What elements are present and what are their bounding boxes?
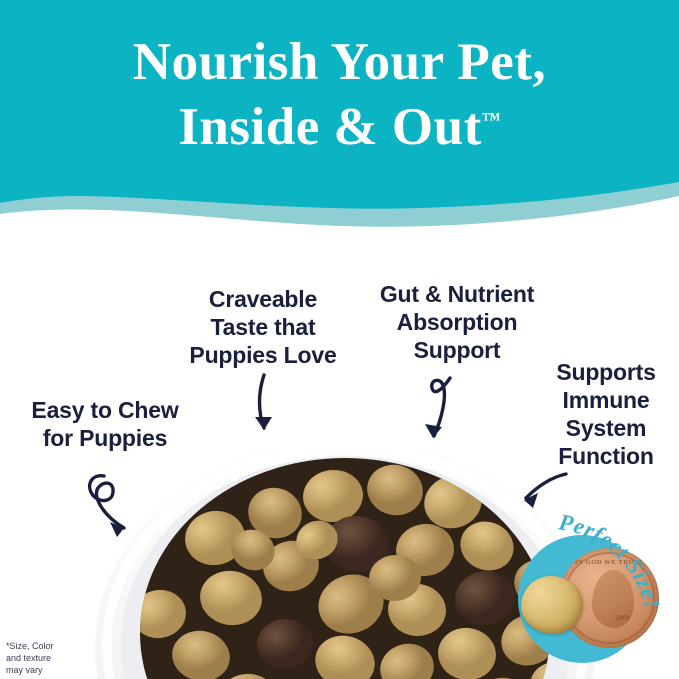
trademark-symbol: ™ — [482, 110, 501, 131]
page-title: Nourish Your Pet, Inside & Out™ — [0, 30, 679, 160]
title-line-2: Inside & Out — [178, 98, 481, 156]
callout-easy-to-chew: Easy to Chew for Puppies — [10, 396, 200, 452]
perfect-size-badge: IN GOD WE TRUST 2008 Perfect Size! — [497, 497, 679, 679]
product-infographic: Nourish Your Pet, Inside & Out™ — [0, 0, 679, 679]
callout-immune-support: Supports Immune System Function — [538, 358, 674, 470]
disclaimer-text: *Size, Color and texture may vary — [6, 641, 98, 677]
perfect-size-label-path: Perfect Size! — [556, 509, 665, 611]
callout-gut-nutrient: Gut & Nutrient Absorption Support — [362, 280, 552, 364]
callout-craveable-taste: Craveable Taste that Puppies Love — [172, 285, 354, 369]
perfect-size-label-arc: Perfect Size! — [497, 497, 679, 679]
header-banner: Nourish Your Pet, Inside & Out™ — [0, 0, 679, 232]
title-line-1: Nourish Your Pet, — [133, 33, 546, 91]
perfect-size-label: Perfect Size! — [556, 509, 665, 611]
